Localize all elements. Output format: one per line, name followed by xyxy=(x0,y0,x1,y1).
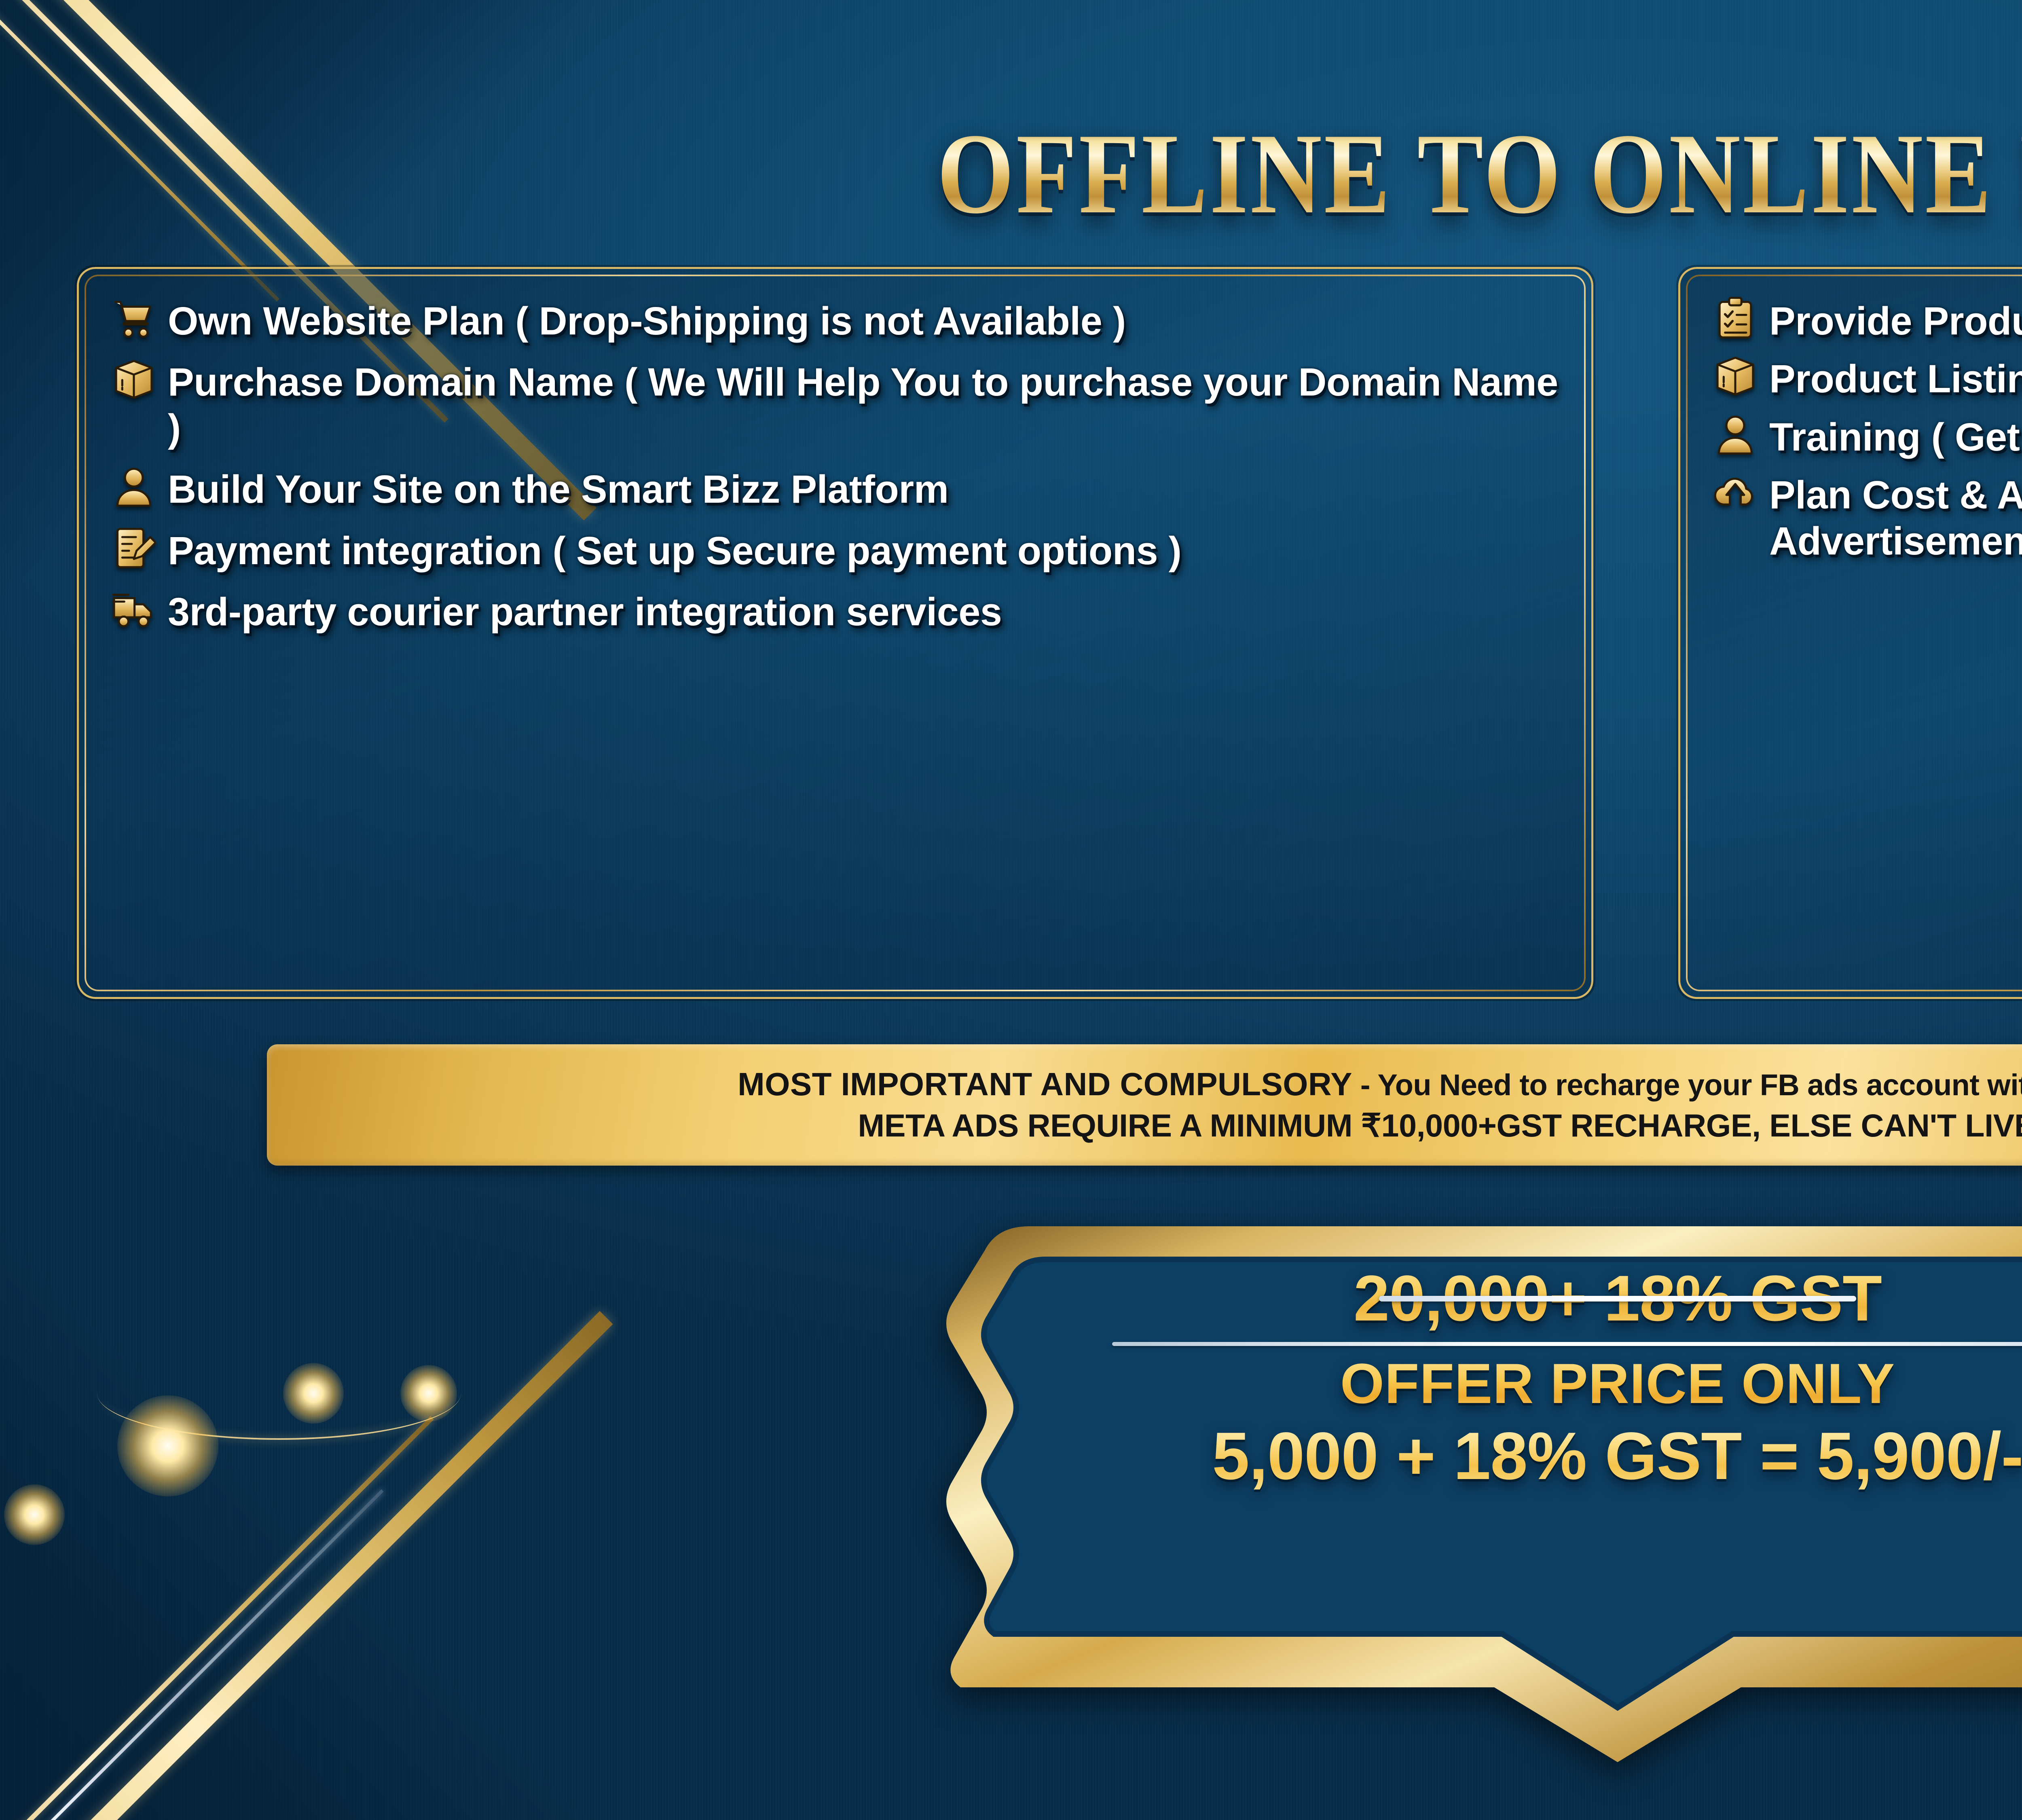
package-box-icon xyxy=(112,358,156,401)
user-person-icon xyxy=(112,465,156,508)
list-item-label: Plan Cost & Ads ( 5,000+ tax ( Plan Fee … xyxy=(1769,472,2022,564)
list-item: Payment integration ( Set up Secure paym… xyxy=(112,528,1569,574)
list-item-label: 3rd-party courier partner integration se… xyxy=(168,589,1002,635)
divider-rule xyxy=(1112,1342,2022,1346)
glow-particle xyxy=(117,1395,218,1496)
document-pen-icon xyxy=(112,526,156,570)
glow-particle xyxy=(4,1484,65,1545)
list-item-label: Training ( Get training for adding more … xyxy=(1769,414,2022,460)
price-badge: 20,000+ 18% GST OFFER PRICE ONLY 5,000 +… xyxy=(908,1222,2022,1764)
list-item: Training ( Get training for adding more … xyxy=(1713,414,2022,460)
list-item: Product Listing ( We will List 20 produc… xyxy=(1713,356,2022,402)
list-item-label: Payment integration ( Set up Secure paym… xyxy=(168,528,1182,574)
left-features-panel: Own Website Plan ( Drop-Shipping is not … xyxy=(77,267,1593,999)
banner-line-1-strong: MOST IMPORTANT AND COMPULSORY xyxy=(738,1066,1352,1102)
list-item: Plan Cost & Ads ( 5,000+ tax ( Plan Fee … xyxy=(1713,472,2022,564)
delivery-truck-icon xyxy=(112,587,156,631)
gold-diagonal-line xyxy=(0,1416,434,1820)
list-item-label: Own Website Plan ( Drop-Shipping is not … xyxy=(168,298,1126,344)
glow-particle xyxy=(400,1365,457,1422)
right-feature-list: Provide Product Info ( Client provides p… xyxy=(1696,288,2022,564)
strikethrough-line xyxy=(1379,1296,1856,1302)
banner-line-2: META ADS REQUIRE A MINIMUM ₹10,000+GST R… xyxy=(858,1107,2022,1144)
new-price: 5,000 + 18% GST = 5,900/- xyxy=(956,1419,2022,1494)
package-box-icon xyxy=(1713,354,1757,398)
glow-particle xyxy=(283,1363,344,1424)
list-item: 3rd-party courier partner integration se… xyxy=(112,589,1569,635)
list-item: Purchase Domain Name ( We Will Help You … xyxy=(112,359,1569,451)
list-item: Build Your Site on the Smart Bizz Platfo… xyxy=(112,466,1569,512)
clipboard-checklist-icon xyxy=(1713,296,1757,340)
list-item-label: Build Your Site on the Smart Bizz Platfo… xyxy=(168,466,949,512)
page-title: OFFLINE TO ONLINE PLAN xyxy=(937,116,2022,231)
right-features-panel: Provide Product Info ( Client provides p… xyxy=(1678,267,2022,999)
white-diagonal-line xyxy=(0,1489,384,1820)
left-feature-list: Own Website Plan ( Drop-Shipping is not … xyxy=(94,288,1575,635)
list-item-label: Provide Product Info ( Client provides p… xyxy=(1769,298,2022,344)
light-thread xyxy=(97,1347,461,1440)
corner-wedge-bottom-left xyxy=(0,1052,809,1820)
offer-label: OFFER PRICE ONLY xyxy=(956,1351,2022,1416)
badge-content: 20,000+ 18% GST OFFER PRICE ONLY 5,000 +… xyxy=(956,1261,2022,1494)
banner-line-1-rest: - You Need to recharge your FB ads accou… xyxy=(1352,1068,2022,1102)
shopping-cart-icon xyxy=(112,296,156,340)
banner-line-1: MOST IMPORTANT AND COMPULSORY - You Need… xyxy=(738,1066,2022,1103)
user-person-icon xyxy=(1713,413,1757,456)
gold-diagonal-line xyxy=(0,1311,613,1820)
list-item-label: Product Listing ( We will List 20 produc… xyxy=(1769,356,2022,402)
list-item-label: Purchase Domain Name ( We Will Help You … xyxy=(168,359,1569,451)
old-price-row: 20,000+ 18% GST xyxy=(956,1261,2022,1335)
list-item: Own Website Plan ( Drop-Shipping is not … xyxy=(112,298,1569,344)
cloud-upload-icon xyxy=(1713,470,1757,514)
poster-root: OFFLINE TO ONLINE PLAN Own Website Plan … xyxy=(0,0,2022,1820)
list-item: Provide Product Info ( Client provides p… xyxy=(1713,298,2022,344)
important-notice-banner: MOST IMPORTANT AND COMPULSORY - You Need… xyxy=(267,1044,2022,1166)
